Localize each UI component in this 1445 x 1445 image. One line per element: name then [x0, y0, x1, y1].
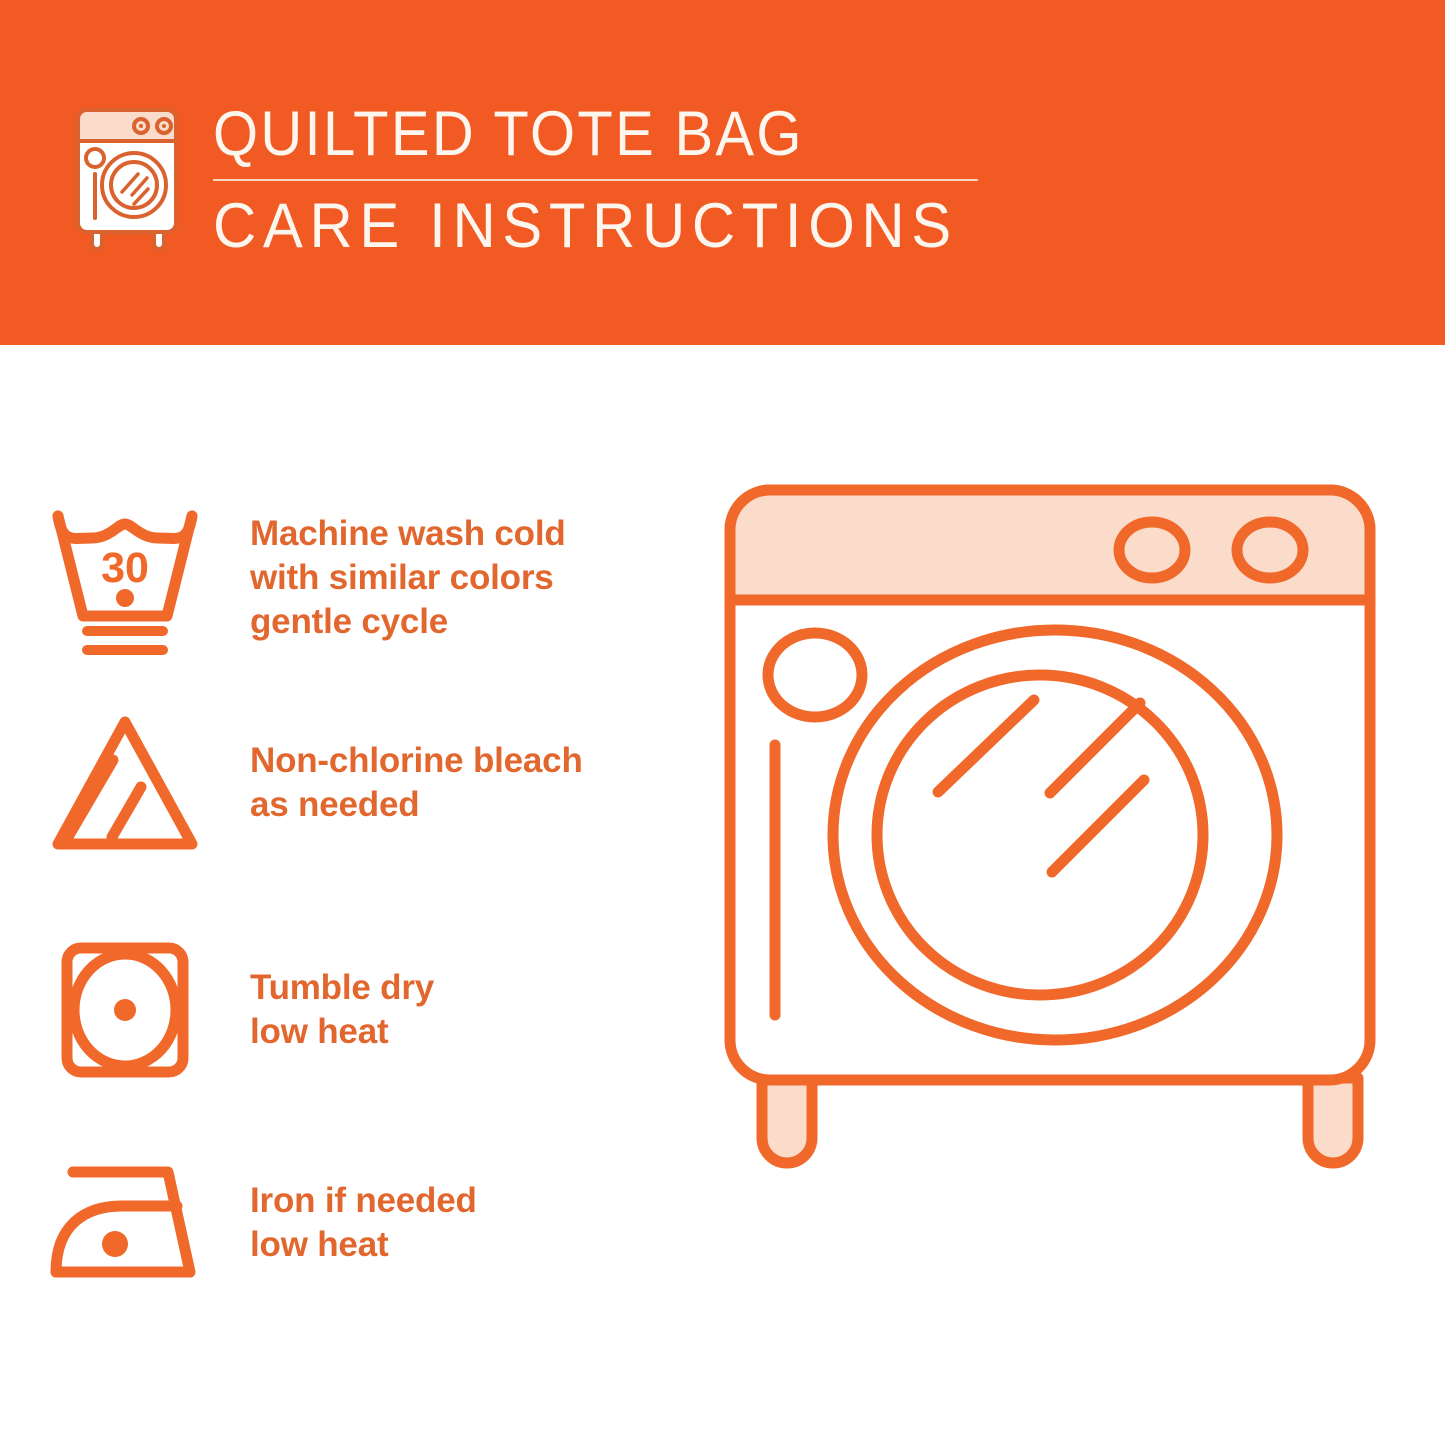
non-chlorine-bleach-symbol	[0, 708, 250, 858]
washing-machine-illustration	[700, 460, 1400, 1380]
care-line: Tumble dry	[250, 966, 434, 1010]
care-row-machine-wash: 30 Machine wash cold with similar colors…	[0, 490, 700, 665]
care-text-machine-wash: Machine wash cold with similar colors ge…	[250, 512, 566, 644]
iron-low-heat-symbol	[0, 1148, 250, 1298]
header-banner: QUILTED TOTE BAG CARE INSTRUCTIONS	[0, 0, 1445, 345]
care-row-iron: Iron if needed low heat	[0, 1143, 700, 1303]
page-subtitle: CARE INSTRUCTIONS	[213, 190, 973, 262]
machine-wash-30-gentle-symbol: 30	[0, 498, 250, 658]
page-title: QUILTED TOTE BAG	[213, 98, 949, 170]
care-line: low heat	[250, 1223, 477, 1267]
top-control-panel	[730, 490, 1370, 600]
care-text-iron: Iron if needed low heat	[250, 1179, 477, 1267]
care-line: as needed	[250, 783, 583, 827]
care-row-tumble-dry: Tumble dry low heat	[0, 930, 700, 1090]
care-row-bleach: Non-chlorine bleach as needed	[0, 703, 700, 863]
care-line: low heat	[250, 1010, 434, 1054]
care-text-tumble-dry: Tumble dry low heat	[250, 966, 434, 1054]
washing-machine-icon	[62, 100, 192, 255]
wash-temperature-label: 30	[101, 544, 149, 592]
care-text-bleach: Non-chlorine bleach as needed	[250, 739, 583, 827]
care-instruction-list: 30 Machine wash cold with similar colors…	[0, 345, 700, 1445]
tumble-dry-low-symbol	[0, 935, 250, 1085]
care-instructions-page: QUILTED TOTE BAG CARE INSTRUCTIONS 30	[0, 0, 1445, 1445]
header-text-block: QUILTED TOTE BAG CARE INSTRUCTIONS	[213, 98, 1013, 262]
care-line: Non-chlorine bleach	[250, 739, 583, 783]
care-line: Machine wash cold	[250, 512, 566, 556]
care-line: Iron if needed	[250, 1179, 477, 1223]
care-line: gentle cycle	[250, 600, 566, 644]
leg-left	[762, 1078, 812, 1163]
leg-right	[1308, 1078, 1358, 1163]
title-divider	[213, 179, 978, 181]
care-line: with similar colors	[250, 556, 566, 600]
